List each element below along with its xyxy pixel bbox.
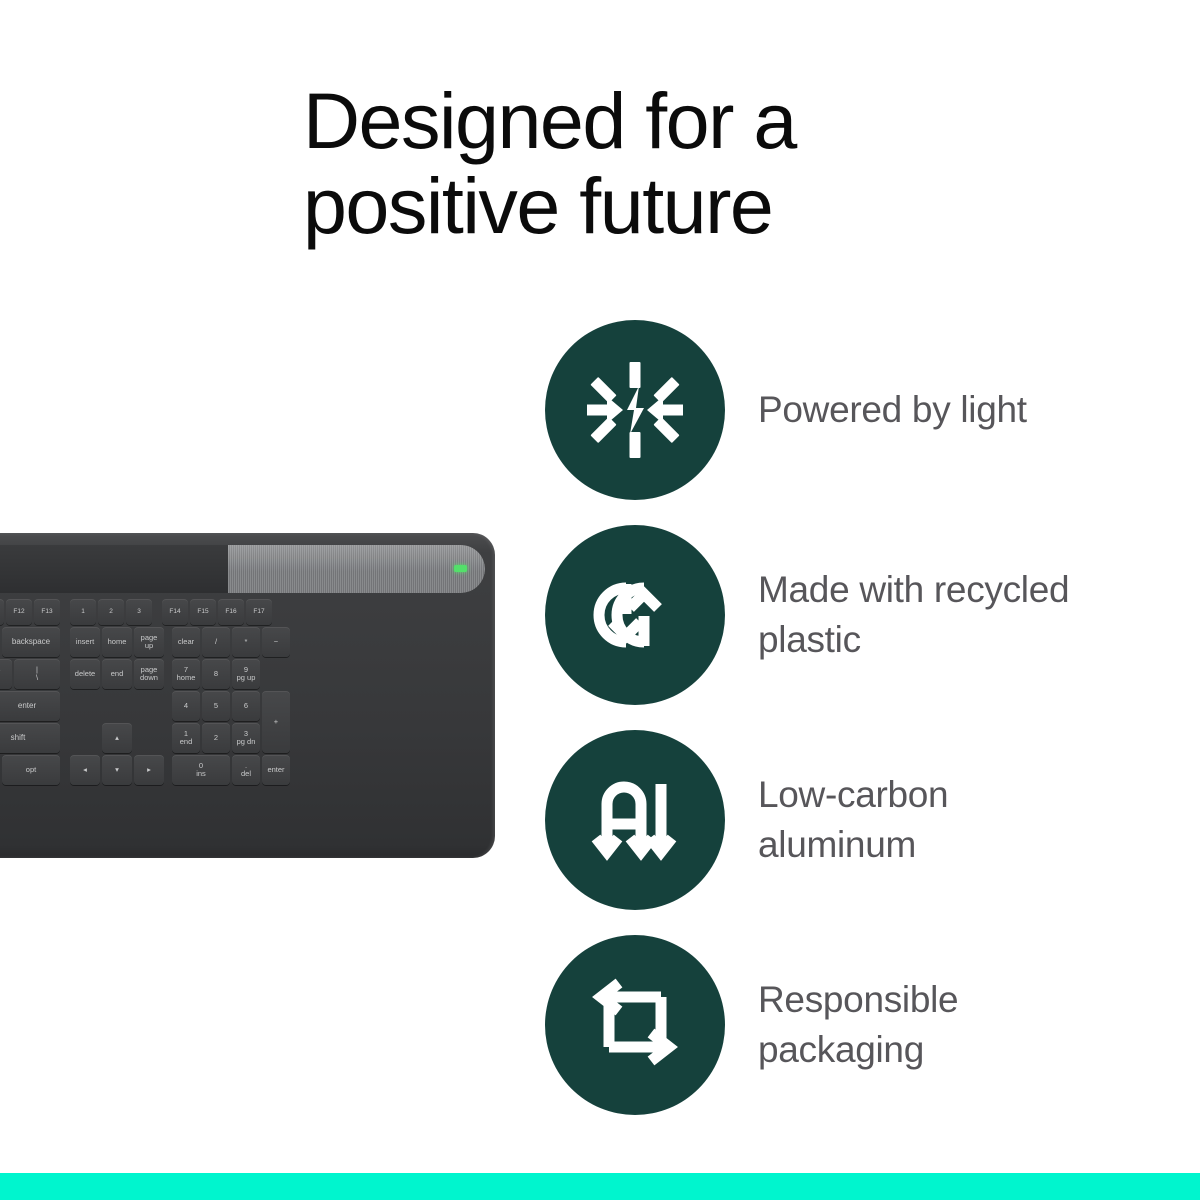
key-numpad-3: 3 pg dn <box>232 723 260 753</box>
feature-badge <box>545 730 725 910</box>
feature-badge <box>545 935 725 1115</box>
low-carbon-aluminum-icon <box>583 768 687 872</box>
key-divide: / <box>202 627 230 657</box>
key-arrow-left: ◂ <box>70 755 100 785</box>
key-opt: opt <box>2 755 60 785</box>
marketing-panel: Designed for a positive future logi F9 F… <box>0 0 1200 1200</box>
key-numpad-1: 1 end <box>172 723 200 753</box>
feature-item-recycled-plastic: Made with recycled plastic <box>545 512 1185 717</box>
key-channel-2: 2 <box>98 599 124 625</box>
key-subtract: − <box>262 627 290 657</box>
key-channel-3: 3 <box>126 599 152 625</box>
key-backslash: | \ <box>14 659 60 689</box>
feature-label: Powered by light <box>758 385 1027 435</box>
key-delete: delete <box>70 659 100 689</box>
key-numpad-5: 5 <box>202 691 230 721</box>
key-f16: F16 <box>218 599 244 625</box>
key-numpad-7: 7 home <box>172 659 200 689</box>
key-multiply: * <box>232 627 260 657</box>
key-numpad-6: 6 <box>232 691 260 721</box>
key-page-up: page up <box>134 627 164 657</box>
key-home: home <box>102 627 132 657</box>
key-numpad-9: 9 pg up <box>232 659 260 689</box>
key-clear: clear <box>172 627 200 657</box>
key-channel-1: 1 <box>70 599 96 625</box>
key-numpad-2: 2 <box>202 723 230 753</box>
key-shift: shift <box>0 723 60 753</box>
key-numpad-0: 0 ins <box>172 755 230 785</box>
key-numpad-8: 8 <box>202 659 230 689</box>
key-enter: enter <box>0 691 60 721</box>
key-f14: F14 <box>162 599 188 625</box>
solar-panel-sheen <box>228 545 485 593</box>
key-insert: insert <box>70 627 100 657</box>
keyboard-keys: F9 F10 F11 F12 F13 1 2 3 F14 F15 F16 F17… <box>0 599 481 836</box>
key-f13: F13 <box>34 599 60 625</box>
key-arrow-down: ▾ <box>102 755 132 785</box>
feature-label: Made with recycled plastic <box>758 565 1069 665</box>
key-backspace: backspace <box>2 627 60 657</box>
key-f15: F15 <box>190 599 216 625</box>
key-end: end <box>102 659 132 689</box>
powered-by-light-icon <box>583 358 687 462</box>
feature-item-powered-by-light: Powered by light <box>545 307 1185 512</box>
key-bracket-right: } ] <box>0 659 12 689</box>
page-title: Designed for a positive future <box>303 78 963 248</box>
key-numpad-4: 4 <box>172 691 200 721</box>
key-f12: F12 <box>6 599 32 625</box>
key-f17-lock: F17 <box>246 599 272 625</box>
feature-badge <box>545 320 725 500</box>
keyboard-product-image: logi F9 F10 F11 F12 F13 1 2 3 F14 F15 F1… <box>0 533 495 858</box>
feature-item-low-carbon-aluminum: Low-carbon aluminum <box>545 717 1185 922</box>
responsible-packaging-icon <box>585 975 685 1075</box>
key-numpad-del: . del <box>232 755 260 785</box>
feature-label: Low-carbon aluminum <box>758 770 948 870</box>
feature-item-responsible-packaging: Responsible packaging <box>545 922 1185 1127</box>
key-arrow-up: ▴ <box>102 723 132 753</box>
status-led-indicator <box>454 565 467 572</box>
key-page-down: page down <box>134 659 164 689</box>
feature-badge <box>545 525 725 705</box>
solar-panel-strip <box>228 545 485 593</box>
key-f11: F11 <box>0 599 4 625</box>
bottom-accent-bar <box>0 1173 1200 1200</box>
recycled-plastic-icon <box>582 574 688 656</box>
key-numpad-add: + <box>262 691 290 753</box>
feature-label: Responsible packaging <box>758 975 958 1075</box>
sustainability-feature-list: Powered by light <box>545 307 1185 1127</box>
key-numpad-enter: enter <box>262 755 290 785</box>
key-arrow-right: ▸ <box>134 755 164 785</box>
keyboard-top-strip <box>0 545 485 593</box>
